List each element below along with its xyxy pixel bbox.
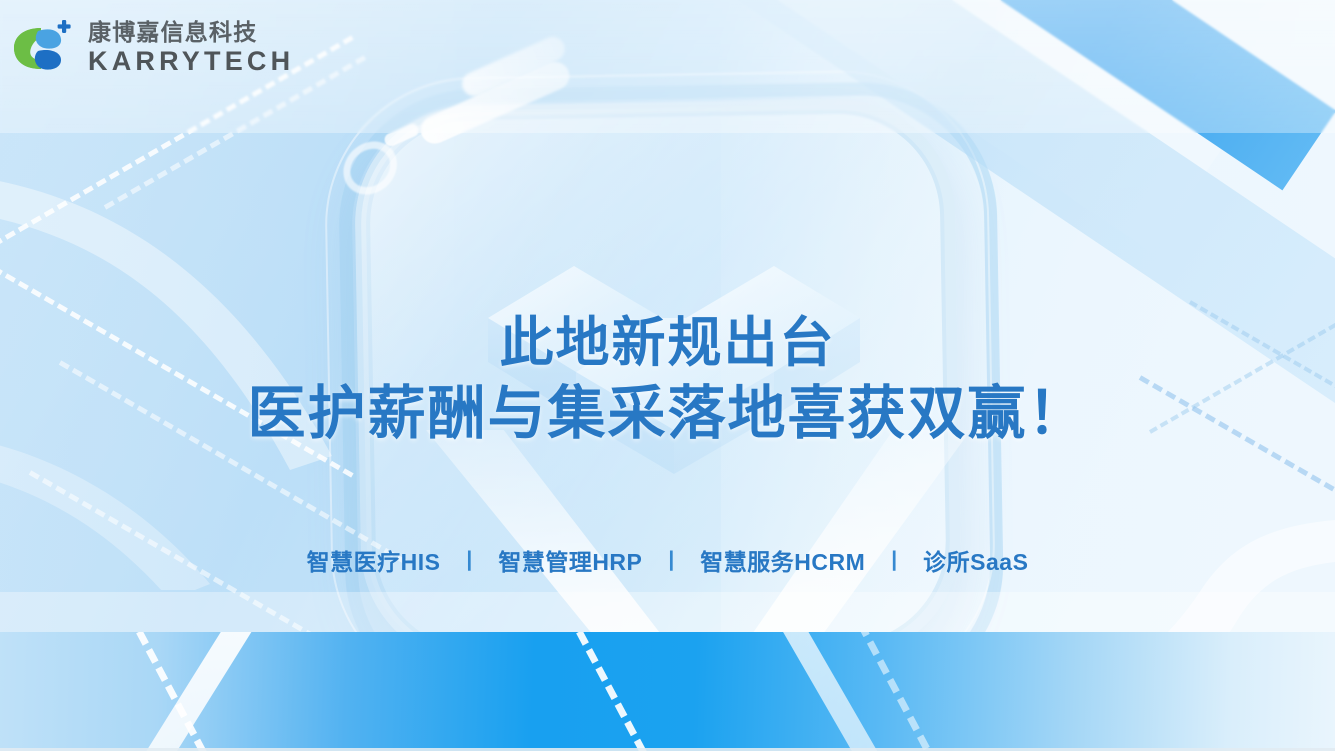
medical-plus-icon bbox=[58, 20, 71, 33]
tagline-separator: | bbox=[668, 548, 674, 572]
brand-logo[interactable]: 康博嘉信息科技 KARRYTECH bbox=[10, 18, 294, 78]
headline-line-1: 此地新规出台 bbox=[0, 312, 1335, 374]
karrytech-leaf-logo-icon bbox=[10, 18, 74, 78]
tagline-item-saas[interactable]: 诊所SaaS bbox=[923, 543, 1028, 577]
tagline-separator: | bbox=[891, 548, 897, 572]
page-title: 此地新规出台 医护薪酬与集采落地喜获双赢！ bbox=[0, 312, 1335, 448]
banner-canvas: 康博嘉信息科技 KARRYTECH 此地新规出台 医护薪酬与集采落地喜获双赢！ … bbox=[0, 0, 1335, 751]
decor-white-bar bbox=[104, 632, 264, 751]
decor-dashed-line bbox=[557, 632, 685, 751]
lower-band bbox=[0, 592, 1335, 632]
tagline-item-his[interactable]: 智慧医疗HIS bbox=[307, 543, 441, 577]
headline-line-2: 医护薪酬与集采落地喜获双赢！ bbox=[0, 380, 1335, 448]
tagline-item-hcrm[interactable]: 智慧服务HCRM bbox=[700, 543, 865, 577]
footer-blue-band bbox=[0, 632, 1335, 751]
decor-white-bar bbox=[760, 632, 909, 751]
brand-name-en: KARRYTECH bbox=[88, 48, 294, 75]
tagline-item-hrp[interactable]: 智慧管理HRP bbox=[498, 543, 642, 577]
tagline-separator: | bbox=[466, 548, 472, 572]
brand-text: 康博嘉信息科技 KARRYTECH bbox=[88, 21, 294, 75]
brand-name-cn: 康博嘉信息科技 bbox=[88, 21, 294, 44]
service-tagline: 智慧医疗HIS | 智慧管理HRP | 智慧服务HCRM | 诊所SaaS bbox=[0, 543, 1335, 577]
